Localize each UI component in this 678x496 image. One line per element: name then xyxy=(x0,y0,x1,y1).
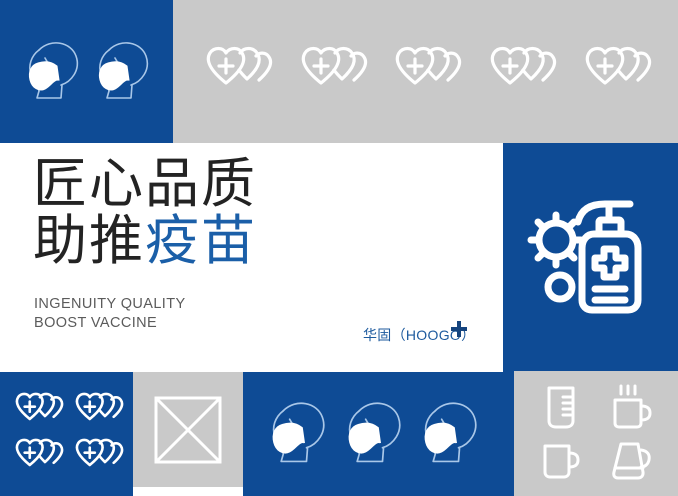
image-placeholder-panel xyxy=(133,372,243,487)
masked-heads-strip-panel xyxy=(243,372,503,496)
masked-head-icon xyxy=(340,396,406,472)
hearts-grid-panel xyxy=(0,372,133,496)
double-heart-plus-icon xyxy=(196,44,276,100)
headline-line-1: 匠心品质 xyxy=(33,156,257,213)
poster-canvas: 匠心品质 助推疫苗 INGENUITY QUALITY BOOST VACCIN… xyxy=(0,0,678,496)
subtitle-line-2: BOOST VACCINE xyxy=(34,314,186,333)
steaming-cup-icon xyxy=(608,383,654,431)
headline-line-2-dark: 助推 xyxy=(33,211,145,271)
sanitizer-panel xyxy=(503,143,678,371)
measuring-beaker-icon xyxy=(540,383,582,431)
english-subtitle: INGENUITY QUALITY BOOST VACCINE xyxy=(34,295,186,333)
double-heart-plus-icon xyxy=(385,44,465,100)
hearts-grid xyxy=(8,390,126,478)
medical-cross-icon xyxy=(449,319,469,339)
double-heart-plus-icon xyxy=(575,44,655,100)
glassware-grid xyxy=(533,382,659,486)
headline-line-2-accent: 疫苗 xyxy=(145,211,257,271)
masked-head-icon xyxy=(91,36,153,108)
masked-head-icon xyxy=(416,396,482,472)
double-heart-plus-icon xyxy=(8,390,66,432)
subtitle-line-1: INGENUITY QUALITY xyxy=(34,295,186,314)
double-heart-plus-icon xyxy=(68,436,126,478)
headline-line-2: 助推疫苗 xyxy=(33,213,257,270)
headline-panel: 匠心品质 助推疫苗 INGENUITY QUALITY BOOST VACCIN… xyxy=(0,143,503,358)
blue-accent-strip xyxy=(503,371,514,496)
double-heart-plus-icon xyxy=(480,44,560,100)
masked-heads-panel xyxy=(0,0,173,143)
double-heart-plus-icon xyxy=(68,390,126,432)
headline-block: 匠心品质 助推疫苗 xyxy=(33,156,257,270)
masked-head-icon xyxy=(264,396,330,472)
masked-head-icon xyxy=(21,36,83,108)
glassware-panel xyxy=(514,371,678,496)
broken-image-placeholder-icon xyxy=(152,394,224,466)
pitcher-kettle-icon xyxy=(608,439,654,483)
hearts-band-panel xyxy=(173,0,678,143)
mug-icon xyxy=(539,440,583,482)
double-heart-plus-icon xyxy=(8,436,66,478)
double-heart-plus-icon xyxy=(291,44,371,100)
